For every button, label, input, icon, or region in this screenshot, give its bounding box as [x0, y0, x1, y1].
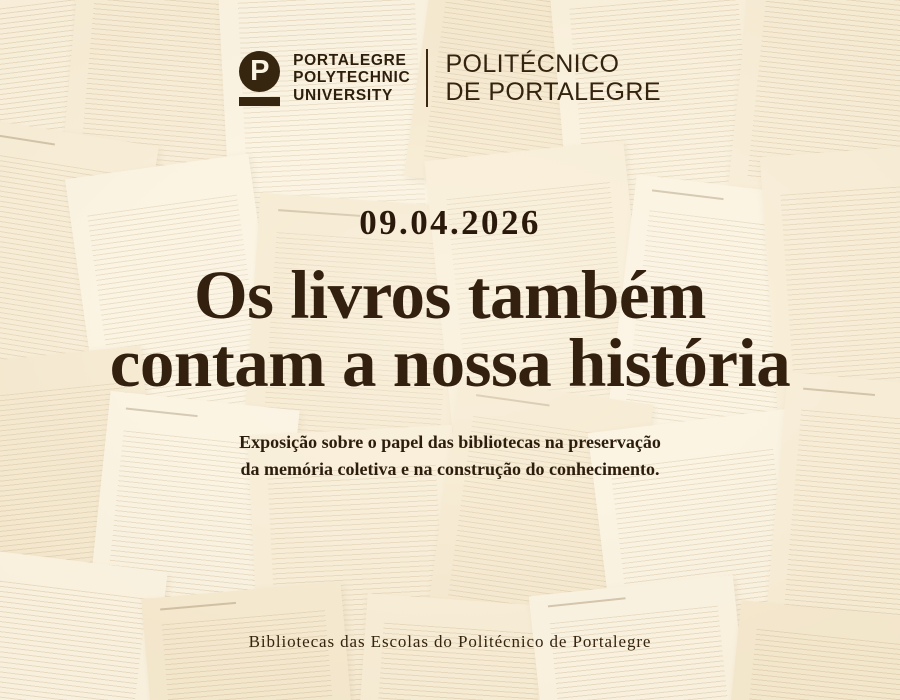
headline-line: contam a nossa história: [110, 329, 790, 397]
institute-name-line: POLITÉCNICO: [445, 50, 660, 78]
university-name: PORTALEGRE POLYTECHNIC UNIVERSITY: [293, 52, 410, 105]
subtitle-line: da memória coletiva e na construção do c…: [239, 456, 661, 483]
institute-name: POLITÉCNICO DE PORTALEGRE: [445, 50, 660, 106]
poster-content: P PORTALEGRE POLYTECHNIC UNIVERSITY POLI…: [0, 0, 900, 700]
institute-name-line: DE PORTALEGRE: [445, 78, 660, 106]
logo-mark: P: [239, 51, 280, 106]
event-poster: P PORTALEGRE POLYTECHNIC UNIVERSITY POLI…: [0, 0, 900, 700]
headline-line: Os livros também: [110, 261, 790, 329]
institution-logo: P PORTALEGRE POLYTECHNIC UNIVERSITY POLI…: [239, 47, 661, 109]
event-headline: Os livros também contam a nossa história: [110, 261, 790, 398]
subtitle-line: Exposição sobre o papel das bibliotecas …: [239, 429, 661, 456]
footer-credit: Bibliotecas das Escolas do Politécnico d…: [0, 632, 900, 652]
event-subtitle: Exposição sobre o papel das bibliotecas …: [239, 429, 661, 484]
university-name-line: PORTALEGRE: [293, 52, 410, 70]
event-date: 09.04.2026: [359, 203, 541, 243]
logo-divider: [426, 49, 428, 107]
university-name-line: POLYTECHNIC: [293, 69, 410, 87]
circle-p-mark-icon: P: [239, 51, 280, 92]
university-name-line: UNIVERSITY: [293, 87, 410, 105]
logo-underbar-icon: [239, 97, 280, 106]
